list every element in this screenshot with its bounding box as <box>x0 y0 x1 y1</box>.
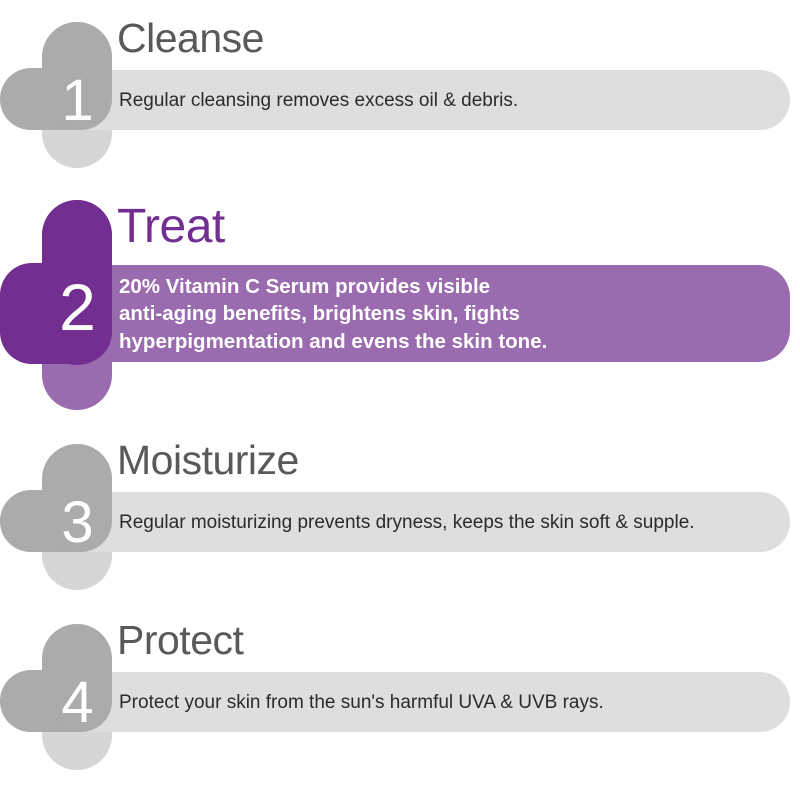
step-4-title: Protect <box>117 620 243 661</box>
skincare-routine-infographic: 1 Cleanse Regular cleansing removes exce… <box>0 0 800 800</box>
step-3-description-line-1: Regular moisturizing prevents dryness, k… <box>119 511 779 535</box>
step-2-number: 2 <box>42 274 112 340</box>
step-3-title: Moisturize <box>117 440 299 481</box>
step-4-description: Protect your skin from the sun's harmful… <box>119 691 779 715</box>
step-2-description-line-1: 20% Vitamin C Serum provides visible <box>119 273 779 300</box>
step-2-title: Treat <box>117 203 225 251</box>
step-1-number: 1 <box>42 72 112 130</box>
step-1-description: Regular cleansing removes excess oil & d… <box>119 89 779 113</box>
step-2-description-line-3: hyperpigmentation and evens the skin ton… <box>119 328 779 355</box>
step-3-number: 3 <box>42 494 112 552</box>
step-4-description-line-1: Protect your skin from the sun's harmful… <box>119 691 779 715</box>
step-row-4: 4 Protect Protect your skin from the sun… <box>0 608 800 788</box>
step-row-3: 3 Moisturize Regular moisturizing preven… <box>0 428 800 608</box>
step-4-number: 4 <box>42 674 112 732</box>
step-1-title: Cleanse <box>117 18 264 59</box>
step-1-description-line-1: Regular cleansing removes excess oil & d… <box>119 89 779 113</box>
step-row-2: 2 Treat 20% Vitamin C Serum provides vis… <box>0 190 800 420</box>
step-2-description-line-2: anti-aging benefits, brightens skin, fig… <box>119 300 779 327</box>
step-2-description: 20% Vitamin C Serum provides visible ant… <box>119 273 779 355</box>
step-3-description: Regular moisturizing prevents dryness, k… <box>119 511 779 535</box>
step-row-1: 1 Cleanse Regular cleansing removes exce… <box>0 0 800 180</box>
